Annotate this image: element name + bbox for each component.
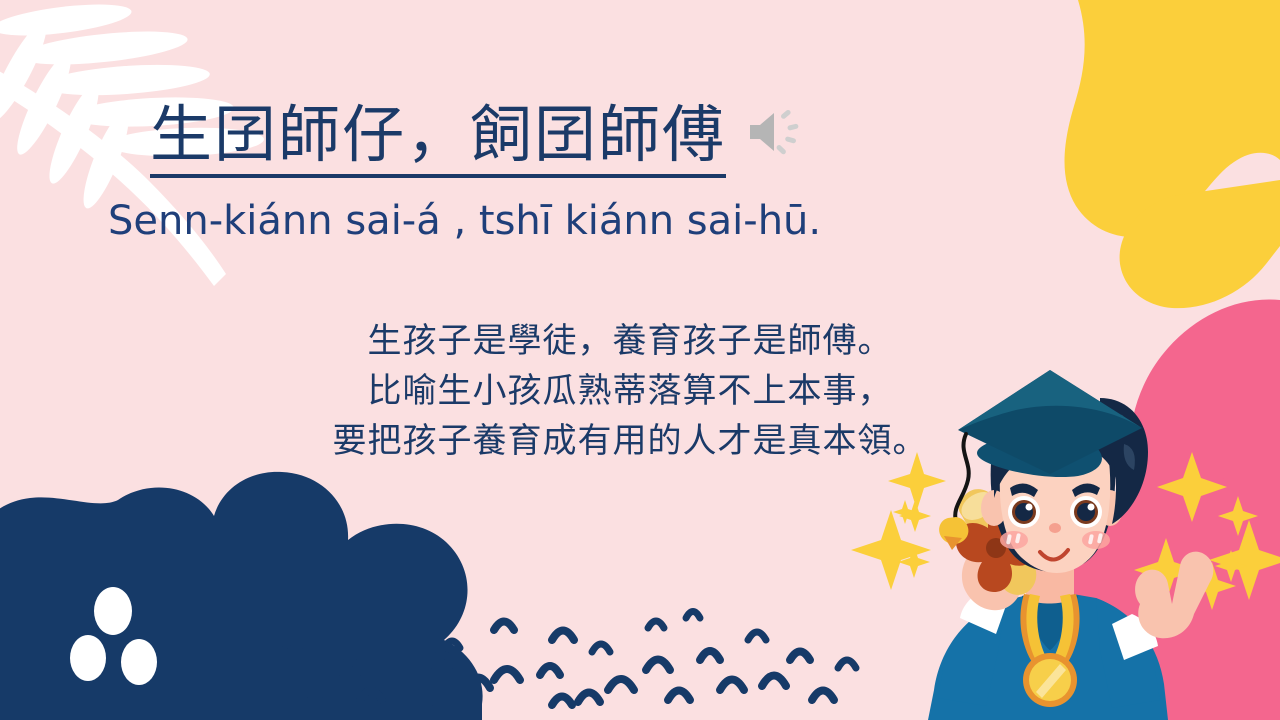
peace-sign-hand — [1135, 552, 1213, 639]
eyebrow-left — [1010, 483, 1038, 497]
neck — [1026, 556, 1074, 604]
left-sleeve — [938, 600, 1006, 706]
graduation-gown — [928, 590, 1168, 720]
body-text-block: 生孩子是學徒，養育孩子是師傅。 比喻生小孩瓜熟蒂落算不上本事， 要把孩子養育成有… — [0, 316, 1280, 466]
right-cuff — [1112, 614, 1158, 660]
left-hand — [962, 544, 1023, 610]
mouth — [1040, 550, 1068, 560]
flower-dot-right — [121, 639, 157, 685]
speaker-icon[interactable] — [746, 107, 802, 162]
yellow-blob-lower-lobe — [1120, 180, 1280, 308]
left-cuff — [960, 588, 1008, 634]
navy-flower-decoration — [0, 472, 483, 720]
body-line: 生孩子是學徒，養育孩子是師傅。 — [0, 316, 1260, 366]
yellow-sparkle-stars — [851, 452, 1280, 610]
eye-left — [1008, 496, 1040, 528]
face — [1000, 452, 1110, 573]
body-line: 比喻生小孩瓜熟蒂落算不上本事， — [0, 366, 1260, 416]
pink-blob-extension — [1050, 470, 1280, 720]
flower-dot-top — [94, 587, 132, 635]
page-title: 生囝師仔，飼囝師傅 — [150, 104, 726, 178]
body-line: 要把孩子養育成有用的人才是真本領。 — [0, 416, 1260, 466]
gown-inner-collar — [1022, 588, 1078, 650]
cheek-left — [1000, 531, 1028, 549]
cheek-shine — [1006, 533, 1103, 545]
cheek-right — [1082, 531, 1110, 549]
gold-medal — [1020, 594, 1079, 707]
navy-bird-arcs-decoration — [286, 606, 856, 706]
eye-right — [1070, 496, 1102, 528]
yellow-blob-decoration — [1065, 0, 1280, 237]
romanization-text: Senn-kiánn sai-á , tshī kiánn sai-hū. — [108, 196, 821, 246]
ear-left — [981, 490, 1007, 526]
eyebrow-right — [1072, 483, 1100, 497]
nose — [1049, 523, 1061, 533]
ear-right — [1097, 490, 1123, 526]
diploma-scroll — [956, 486, 1036, 595]
right-sleeve — [1096, 598, 1160, 708]
title-row: 生囝師仔，飼囝師傅 — [150, 104, 802, 178]
slide-canvas: 生囝師仔，飼囝師傅 Senn-kiánn sai-á , tshī kiánn … — [0, 0, 1280, 720]
flower-dot-left — [70, 635, 106, 681]
